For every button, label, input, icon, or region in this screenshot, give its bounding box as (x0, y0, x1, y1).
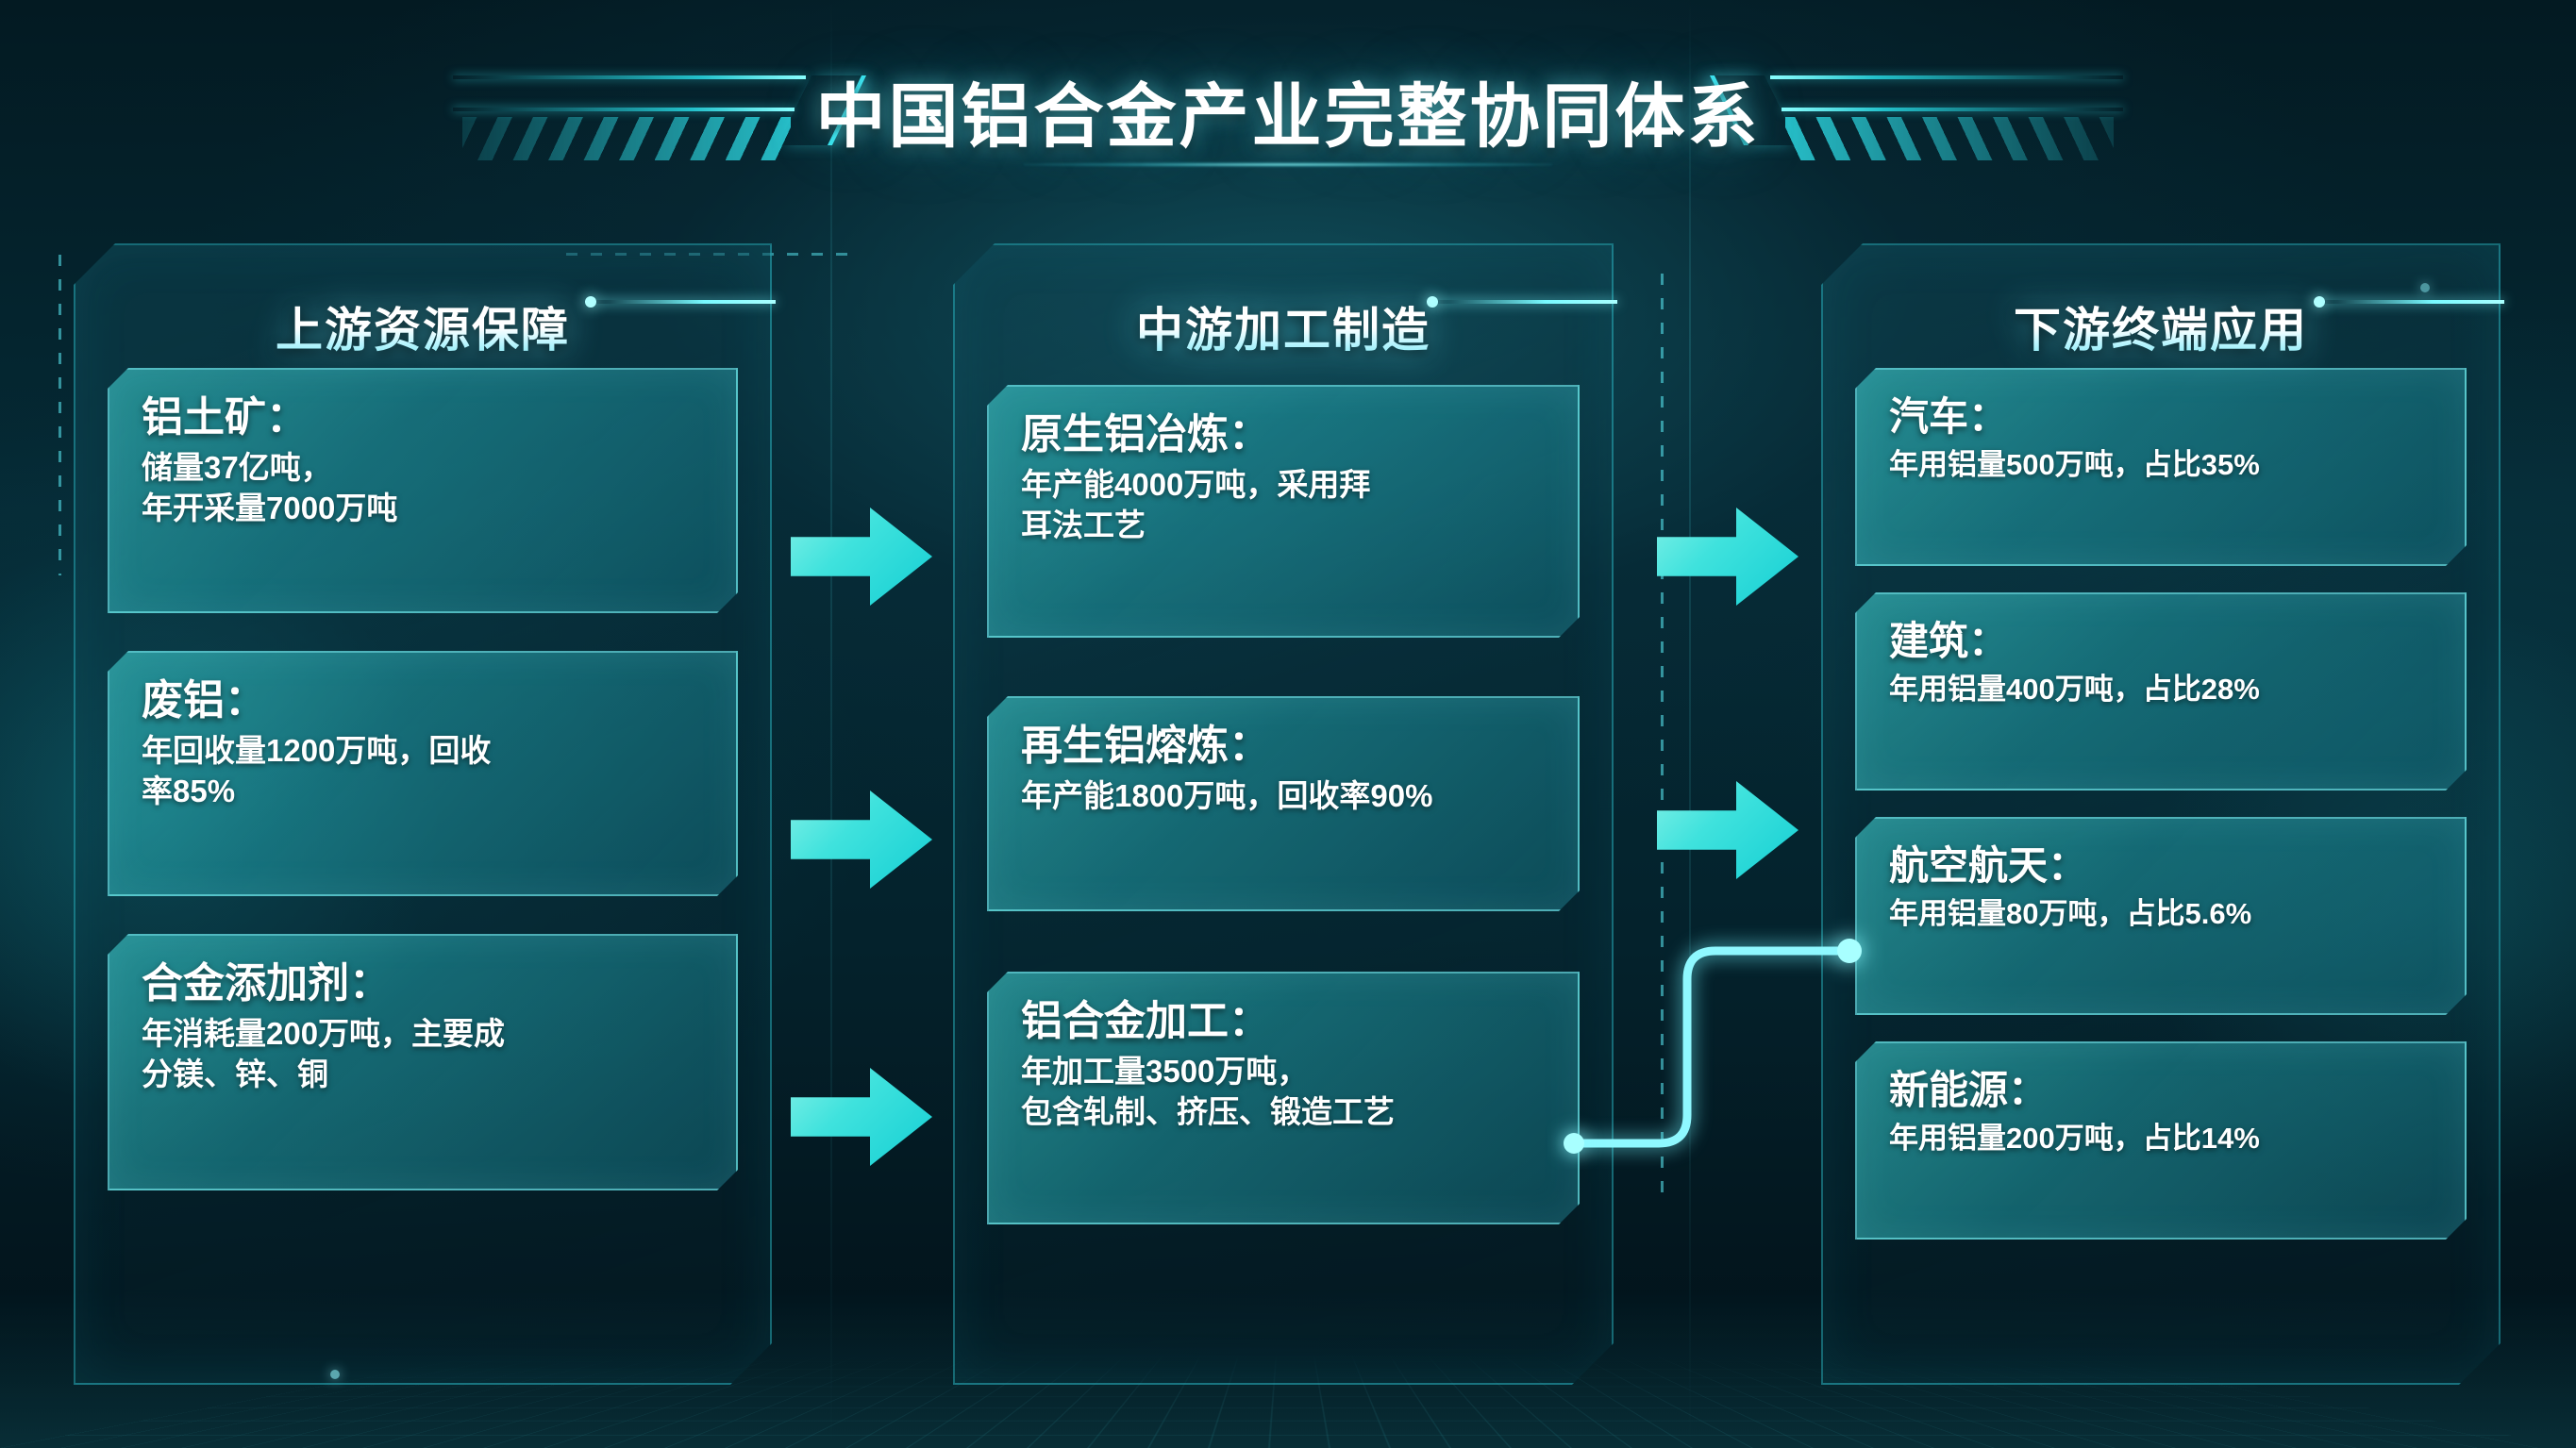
card-body: 年消耗量200万吨，主要成分镁、锌、铜 (142, 1014, 708, 1095)
right-arrow-icon (1657, 508, 1798, 606)
connector-end-dot (1837, 939, 1862, 963)
connector-line (1574, 951, 1849, 1143)
card-title: 合金添加剂： (142, 960, 708, 1007)
card-alloy-additives[interactable]: 合金添加剂： 年消耗量200万吨，主要成分镁、锌、铜 (108, 934, 738, 1190)
right-arrow-icon (791, 1068, 932, 1166)
title-underglow (1024, 162, 1552, 167)
card-title: 废铝： (142, 677, 708, 724)
arrow-additive-to-processing (791, 1068, 932, 1166)
right-arrow-icon (1657, 781, 1798, 879)
card-body: 年用铝量500万吨，占比35% (1889, 446, 2436, 484)
column-header-downstream: 下游终端应用 (1821, 292, 2501, 360)
card-body: 年回收量1200万吨，回收率85% (142, 731, 708, 812)
column-header-midstream: 中游加工制造 (953, 292, 1614, 360)
card-body: 储量37亿吨，年开采量7000万吨 (142, 448, 708, 529)
card-title: 铝合金加工： (1021, 998, 1549, 1044)
column-header-upstream: 上游资源保障 (74, 292, 772, 360)
infographic-canvas: 中国铝合金产业完整协同体系 上游资源保障 铝土矿： 储量37亿吨，年开采量700… (0, 0, 2576, 1448)
column-midstream: 中游加工制造 原生铝冶炼： 年产能4000万吨，采用拜耳法工艺 再生铝熔炼： 年… (953, 243, 1614, 1385)
card-title: 汽车： (1889, 394, 2436, 439)
background-seam (1689, 0, 1691, 1448)
arrow-scrap-to-remelting (791, 791, 932, 889)
card-list-upstream: 铝土矿： 储量37亿吨，年开采量7000万吨 废铝： 年回收量1200万吨，回收… (108, 368, 738, 1345)
card-title: 再生铝熔炼： (1021, 723, 1549, 769)
card-scrap-aluminum[interactable]: 废铝： 年回收量1200万吨，回收率85% (108, 651, 738, 896)
card-construction[interactable]: 建筑： 年用铝量400万吨，占比28% (1855, 592, 2467, 791)
card-list-midstream: 原生铝冶炼： 年产能4000万吨，采用拜耳法工艺 再生铝熔炼： 年产能1800万… (987, 368, 1580, 1345)
column-upstream: 上游资源保障 铝土矿： 储量37亿吨，年开采量7000万吨 废铝： 年回收量12… (74, 243, 772, 1385)
connector-path-svg (1547, 906, 1906, 1170)
background-seam (830, 0, 832, 1448)
arrow-remelting-to-applications (1657, 781, 1798, 879)
card-body: 年用铝量400万吨，占比28% (1889, 671, 2436, 708)
card-title: 铝土矿： (142, 394, 708, 441)
arrow-smelting-to-applications (1657, 508, 1798, 606)
card-title: 航空航天： (1889, 843, 2436, 888)
card-title: 建筑： (1889, 619, 2436, 663)
card-title: 新能源： (1889, 1068, 2436, 1112)
card-body: 年用铝量80万吨，占比5.6% (1889, 895, 2436, 933)
title-bar: 中国铝合金产业完整协同体系 (0, 45, 2576, 158)
arrow-bauxite-to-smelting (791, 508, 932, 606)
card-bauxite[interactable]: 铝土矿： 储量37亿吨，年开采量7000万吨 (108, 368, 738, 613)
right-arrow-icon (791, 791, 932, 889)
card-body: 年用铝量200万吨，占比14% (1889, 1120, 2436, 1157)
card-title: 原生铝冶炼： (1021, 411, 1549, 458)
card-primary-smelting[interactable]: 原生铝冶炼： 年产能4000万吨，采用拜耳法工艺 (987, 385, 1580, 638)
connector-processing-to-aerospace (1547, 906, 1906, 1170)
card-body: 年加工量3500万吨，包含轧制、挤压、锻造工艺 (1021, 1052, 1549, 1133)
dashed-accent-line (59, 255, 61, 575)
card-body: 年产能1800万吨，回收率90% (1021, 776, 1549, 817)
column-downstream: 下游终端应用 汽车： 年用铝量500万吨，占比35% 建筑： 年用铝量400万吨… (1821, 243, 2501, 1385)
card-alloy-processing[interactable]: 铝合金加工： 年加工量3500万吨，包含轧制、挤压、锻造工艺 (987, 972, 1580, 1224)
page-title: 中国铝合金产业完整协同体系 (0, 60, 2576, 161)
connector-start-dot (1564, 1133, 1584, 1154)
card-new-energy[interactable]: 新能源： 年用铝量200万吨，占比14% (1855, 1041, 2467, 1240)
card-automotive[interactable]: 汽车： 年用铝量500万吨，占比35% (1855, 368, 2467, 566)
card-aerospace[interactable]: 航空航天： 年用铝量80万吨，占比5.6% (1855, 817, 2467, 1015)
card-list-downstream: 汽车： 年用铝量500万吨，占比35% 建筑： 年用铝量400万吨，占比28% … (1855, 368, 2467, 1345)
right-arrow-icon (791, 508, 932, 606)
card-secondary-remelting[interactable]: 再生铝熔炼： 年产能1800万吨，回收率90% (987, 696, 1580, 911)
card-body: 年产能4000万吨，采用拜耳法工艺 (1021, 465, 1549, 546)
